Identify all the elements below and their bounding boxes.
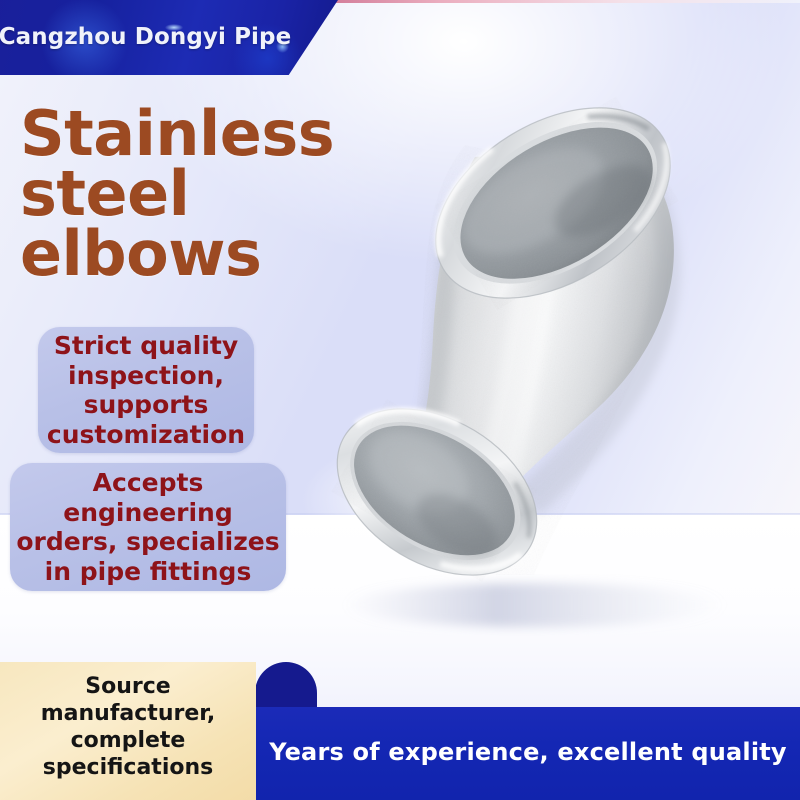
footer-left-label: Source manufacturer, complete specificat… (8, 674, 248, 781)
feature-badge-orders: Accepts engineering orders, specializes … (10, 463, 286, 591)
feature-badge-quality: Strict quality inspection, supports cust… (38, 327, 254, 453)
company-banner-text-wrap: Cangzhou Dongyi Pipe (0, 0, 338, 75)
footer-left-panel-text-wrap: Source manufacturer, complete specificat… (0, 662, 256, 800)
footer-right-bar: Years of experience, excellent quality (256, 707, 800, 800)
page-title-line-3: elbows (20, 224, 400, 284)
footer-right-label: Years of experience, excellent quality (269, 738, 787, 770)
company-name: Cangzhou Dongyi Pipe (0, 24, 291, 51)
feature-badge-orders-label: Accepts engineering orders, specializes … (10, 468, 286, 586)
page-title: Stainless steel elbows (20, 104, 400, 284)
page-title-line-2: steel (20, 164, 400, 224)
product-poster: Cangzhou Dongyi Pipe Stainless steel elb… (0, 0, 800, 800)
page-title-line-1: Stainless (20, 104, 400, 164)
feature-badge-quality-label: Strict quality inspection, supports cust… (38, 331, 254, 449)
